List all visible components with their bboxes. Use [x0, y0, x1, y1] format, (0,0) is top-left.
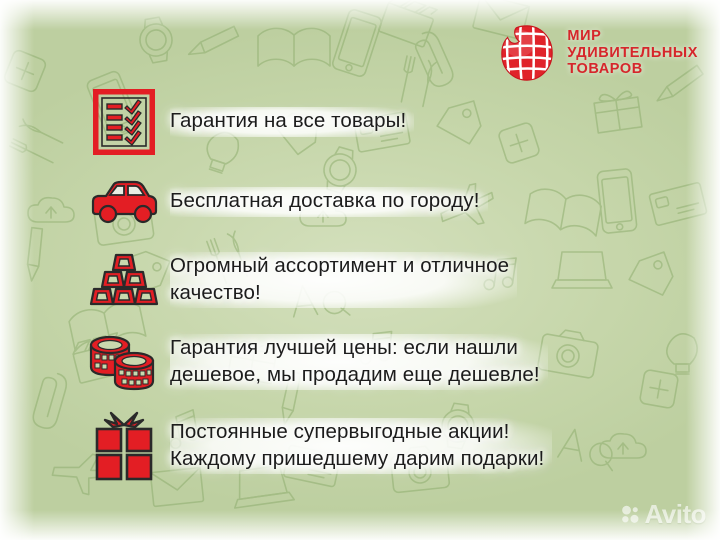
feature-text-promotions: Постоянные супервыгодные акции! Каждому … — [170, 418, 552, 473]
feature-list: Гарантия на все товары! Бесплатная доста… — [78, 84, 638, 492]
checklist-icon — [78, 89, 170, 155]
coin-stacks-icon — [78, 331, 170, 393]
feature-line: Гарантия на все товары! — [170, 108, 406, 134]
promo-poster: МИР УДИВИТЕЛЬНЫХ ТОВАРОВ — [0, 0, 720, 540]
feature-text-warranty: Гарантия на все товары! — [170, 107, 414, 136]
feature-line: дешевое, мы продадим еще дешевле! — [170, 362, 540, 388]
feature-text-assortment: Огромный ассортимент и отличное качество… — [170, 252, 517, 307]
feature-item-delivery: Бесплатная доставка по городу! — [78, 168, 638, 236]
brand-line-1: МИР — [567, 28, 698, 45]
feature-item-assortment: Огромный ассортимент и отличное качество… — [78, 244, 638, 316]
avito-watermark: Avito — [621, 499, 706, 530]
brand-logo: МИР УДИВИТЕЛЬНЫХ ТОВАРОВ — [496, 22, 698, 84]
avito-wordmark: Avito — [644, 499, 706, 530]
red-globe-icon — [496, 22, 558, 84]
feature-line: Огромный ассортимент и отличное — [170, 253, 509, 279]
gold-bars-icon — [78, 251, 170, 309]
feature-item-promotions: Постоянные супервыгодные акции! Каждому … — [78, 408, 638, 484]
avito-dots-icon — [621, 505, 640, 524]
feature-line: Постоянные супервыгодные акции! — [170, 419, 544, 445]
feature-item-best-price: Гарантия лучшей цены: если нашли дешевое… — [78, 324, 638, 400]
feature-item-warranty: Гарантия на все товары! — [78, 84, 638, 160]
feature-text-delivery: Бесплатная доставка по городу! — [170, 187, 488, 216]
feature-line: качество! — [170, 280, 509, 306]
feature-line: Гарантия лучшей цены: если нашли — [170, 335, 540, 361]
brand-logo-text: МИР УДИВИТЕЛЬНЫХ ТОВАРОВ — [567, 28, 698, 78]
feature-text-best-price: Гарантия лучшей цены: если нашли дешевое… — [170, 334, 548, 389]
car-icon — [78, 179, 170, 225]
brand-line-2: УДИВИТЕЛЬНЫХ — [567, 45, 698, 62]
brand-line-3: ТОВАРОВ — [567, 61, 698, 78]
feature-line: Каждому пришедшему дарим подарки! — [170, 446, 544, 472]
feature-line: Бесплатная доставка по городу! — [170, 188, 480, 214]
gift-box-icon — [78, 411, 170, 481]
